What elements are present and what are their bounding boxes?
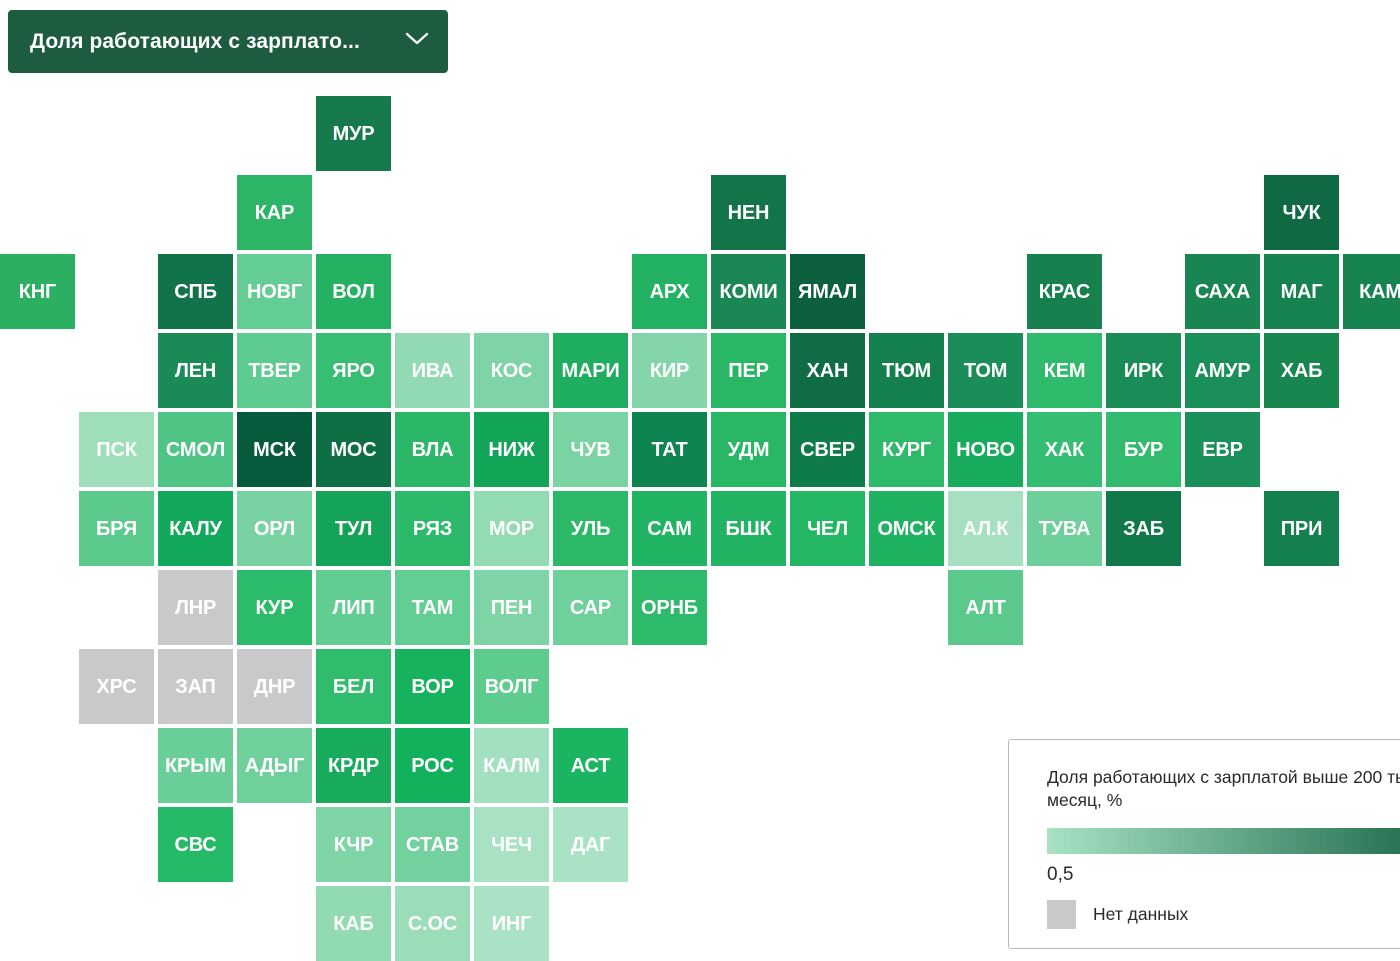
region-tile-label: ПЕР [728, 361, 768, 381]
region-tile-label: ЛЕН [175, 361, 216, 381]
region-tile-label: СВС [175, 835, 217, 855]
region-tile-КАЛУ[interactable]: КАЛУ [158, 491, 233, 566]
legend-nodata-swatch [1047, 900, 1076, 929]
region-tile-label: ЛНР [175, 598, 216, 618]
region-tile-label: САХА [1195, 282, 1250, 302]
region-tile-АМУР[interactable]: АМУР [1185, 333, 1260, 408]
region-tile-КУРГ[interactable]: КУРГ [869, 412, 944, 487]
region-tile-label: МСК [253, 440, 296, 460]
region-tile-ПСК[interactable]: ПСК [79, 412, 154, 487]
legend-nodata-row: Нет данных [1047, 900, 1400, 929]
region-tile-ВОЛ[interactable]: ВОЛ [316, 254, 391, 329]
legend-color-ramp [1047, 828, 1400, 854]
region-tile-МУР[interactable]: МУР [316, 96, 391, 171]
region-tile-ДНР[interactable]: ДНР [237, 649, 312, 724]
region-tile-ЯРО[interactable]: ЯРО [316, 333, 391, 408]
region-tile-ТУВА[interactable]: ТУВА [1027, 491, 1102, 566]
region-tile-СТАВ[interactable]: СТАВ [395, 807, 470, 882]
region-tile-КАР[interactable]: КАР [237, 175, 312, 250]
region-tile-МАРИ[interactable]: МАРИ [553, 333, 628, 408]
region-tile-label: ЧЕЛ [807, 519, 848, 539]
region-tile-label: МОС [330, 440, 376, 460]
region-tile-label: КАЛУ [169, 519, 222, 539]
region-tile-label: ПСК [96, 440, 136, 460]
region-tile-ЛНР[interactable]: ЛНР [158, 570, 233, 645]
region-tile-ВОР[interactable]: ВОР [395, 649, 470, 724]
region-tile-label: ПРИ [1281, 519, 1323, 539]
region-tile-label: АЛТ [965, 598, 1005, 618]
region-tile-label: КРАС [1039, 282, 1090, 302]
region-tile-label: КАР [255, 203, 294, 223]
region-tile-label: НЕН [728, 203, 770, 223]
region-tile-ХАК[interactable]: ХАК [1027, 412, 1102, 487]
region-tile-label: ТВЕР [248, 361, 301, 381]
region-tile-МАГ[interactable]: МАГ [1264, 254, 1339, 329]
region-tile-САХА[interactable]: САХА [1185, 254, 1260, 329]
region-tile-БУР[interactable]: БУР [1106, 412, 1181, 487]
region-tile-С.ОС[interactable]: С.ОС [395, 886, 470, 961]
region-tile-НЕН[interactable]: НЕН [711, 175, 786, 250]
region-tile-label: ЛИП [332, 598, 374, 618]
region-tile-label: БЕЛ [333, 677, 374, 697]
region-tile-КРДР[interactable]: КРДР [316, 728, 391, 803]
region-tile-label: ТОМ [964, 361, 1007, 381]
region-tile-label: ЧУВ [570, 440, 610, 460]
region-tile-label: НИЖ [488, 440, 534, 460]
region-tile-БРЯ[interactable]: БРЯ [79, 491, 154, 566]
region-tile-ИРК[interactable]: ИРК [1106, 333, 1181, 408]
region-tile-ХРС[interactable]: ХРС [79, 649, 154, 724]
region-tile-КАБ[interactable]: КАБ [316, 886, 391, 961]
region-tile-label: КЕМ [1044, 361, 1086, 381]
region-tile-label: ЯМАЛ [798, 282, 857, 302]
region-tile-ВЛА[interactable]: ВЛА [395, 412, 470, 487]
region-tile-АРХ[interactable]: АРХ [632, 254, 707, 329]
region-tile-УДМ[interactable]: УДМ [711, 412, 786, 487]
region-tile-label: ОРЛ [254, 519, 295, 539]
region-tile-ЗАП[interactable]: ЗАП [158, 649, 233, 724]
region-tile-ЧУК[interactable]: ЧУК [1264, 175, 1339, 250]
region-tile-label: МАРИ [561, 361, 619, 381]
region-tile-АСТ[interactable]: АСТ [553, 728, 628, 803]
region-tile-СМОЛ[interactable]: СМОЛ [158, 412, 233, 487]
region-tile-label: РОС [411, 756, 453, 776]
region-tile-label: ТУЛ [335, 519, 372, 539]
region-tile-label: УДМ [728, 440, 770, 460]
region-tile-label: КАЛМ [483, 756, 540, 776]
region-tile-ХАБ[interactable]: ХАБ [1264, 333, 1339, 408]
region-tile-label: ДНР [254, 677, 295, 697]
region-tile-ТОМ[interactable]: ТОМ [948, 333, 1023, 408]
region-tile-ИВА[interactable]: ИВА [395, 333, 470, 408]
chevron-down-icon [404, 31, 430, 52]
region-tile-label: УЛЬ [571, 519, 611, 539]
region-tile-ТЮМ[interactable]: ТЮМ [869, 333, 944, 408]
region-tile-ЛИП[interactable]: ЛИП [316, 570, 391, 645]
region-tile-ЧУВ[interactable]: ЧУВ [553, 412, 628, 487]
region-tile-label: ВОЛ [332, 282, 374, 302]
region-tile-label: С.ОС [408, 914, 457, 934]
region-tile-label: ИВА [412, 361, 454, 381]
region-tile-МСК[interactable]: МСК [237, 412, 312, 487]
region-tile-label: ЯРО [332, 361, 374, 381]
region-tile-label: СПБ [174, 282, 217, 302]
region-tile-ХАН[interactable]: ХАН [790, 333, 865, 408]
region-tile-КОМИ[interactable]: КОМИ [711, 254, 786, 329]
region-tile-ВОЛГ[interactable]: ВОЛГ [474, 649, 549, 724]
region-tile-КИР[interactable]: КИР [632, 333, 707, 408]
region-tile-label: КРЫМ [165, 756, 226, 776]
region-tile-label: ИРК [1124, 361, 1163, 381]
region-tile-НОВО[interactable]: НОВО [948, 412, 1023, 487]
region-tile-label: КАМ [1359, 282, 1400, 302]
region-tile-НИЖ[interactable]: НИЖ [474, 412, 549, 487]
region-tile-label: КОС [491, 361, 533, 381]
legend-title: Доля работающих с зарплатой выше 200 тыс… [1047, 766, 1400, 812]
region-tile-label: КНГ [19, 282, 56, 302]
region-tile-label: ТАМ [412, 598, 453, 618]
region-tile-label: ХАН [807, 361, 849, 381]
region-tile-УЛЬ[interactable]: УЛЬ [553, 491, 628, 566]
region-tile-БЕЛ[interactable]: БЕЛ [316, 649, 391, 724]
region-tile-КАМ[interactable]: КАМ [1343, 254, 1400, 329]
region-tile-КУР[interactable]: КУР [237, 570, 312, 645]
region-tile-ЛЕН[interactable]: ЛЕН [158, 333, 233, 408]
region-tile-ТАТ[interactable]: ТАТ [632, 412, 707, 487]
region-tile-label: ДАГ [571, 835, 610, 855]
region-tile-label: МУР [333, 124, 375, 144]
region-tile-ОМСК[interactable]: ОМСК [869, 491, 944, 566]
metric-selector-label: Доля работающих с зарплато... [30, 30, 388, 54]
region-tile-label: СТАВ [406, 835, 459, 855]
region-tile-label: ПЕН [491, 598, 533, 618]
region-tile-label: КИР [650, 361, 689, 381]
region-tile-label: БШК [725, 519, 771, 539]
region-tile-ИНГ[interactable]: ИНГ [474, 886, 549, 961]
region-tile-label: СМОЛ [166, 440, 225, 460]
region-tile-НОВГ[interactable]: НОВГ [237, 254, 312, 329]
region-tile-label: СВЕР [800, 440, 855, 460]
region-tile-label: ХАК [1045, 440, 1084, 460]
region-tile-ЗАБ[interactable]: ЗАБ [1106, 491, 1181, 566]
region-tile-label: КЧР [334, 835, 374, 855]
region-tile-ЯМАЛ[interactable]: ЯМАЛ [790, 254, 865, 329]
region-tile-ЧЕЛ[interactable]: ЧЕЛ [790, 491, 865, 566]
region-tile-label: МАГ [1281, 282, 1323, 302]
region-tile-ТВЕР[interactable]: ТВЕР [237, 333, 312, 408]
region-tile-label: БУР [1124, 440, 1163, 460]
region-tile-label: ЗАБ [1123, 519, 1164, 539]
region-tile-label: НОВГ [247, 282, 302, 302]
region-tile-label: ТЮМ [882, 361, 931, 381]
region-tile-label: ОРНБ [641, 598, 698, 618]
region-tile-СПБ[interactable]: СПБ [158, 254, 233, 329]
region-tile-label: КУР [256, 598, 294, 618]
region-tile-label: САМ [647, 519, 691, 539]
region-tile-ПЕН[interactable]: ПЕН [474, 570, 549, 645]
region-tile-label: РЯЗ [413, 519, 452, 539]
region-tile-ЧЕЧ[interactable]: ЧЕЧ [474, 807, 549, 882]
region-tile-label: АЛ.К [963, 519, 1009, 539]
region-tile-label: ТУВА [1039, 519, 1091, 539]
region-tile-label: ЧЕЧ [491, 835, 532, 855]
region-tile-label: ИНГ [492, 914, 532, 934]
region-tile-label: ВОР [411, 677, 453, 697]
region-tile-СВЕР[interactable]: СВЕР [790, 412, 865, 487]
region-tile-МОС[interactable]: МОС [316, 412, 391, 487]
region-tile-КЕМ[interactable]: КЕМ [1027, 333, 1102, 408]
region-tile-КРЫМ[interactable]: КРЫМ [158, 728, 233, 803]
region-tile-РОС[interactable]: РОС [395, 728, 470, 803]
region-tile-СВС[interactable]: СВС [158, 807, 233, 882]
region-tile-label: ЕВР [1202, 440, 1243, 460]
legend-min-value: 0,5 [1047, 864, 1400, 886]
region-tile-label: МОР [489, 519, 534, 539]
region-tile-label: ВОЛГ [485, 677, 539, 697]
region-tile-label: КОМИ [720, 282, 778, 302]
region-tile-КОС[interactable]: КОС [474, 333, 549, 408]
region-tile-label: КРДР [328, 756, 379, 776]
region-tile-label: АМУР [1194, 361, 1250, 381]
region-tile-ДАГ[interactable]: ДАГ [553, 807, 628, 882]
region-tile-МОР[interactable]: МОР [474, 491, 549, 566]
legend-panel: Доля работающих с зарплатой выше 200 тыс… [1008, 739, 1400, 949]
region-tile-КАЛМ[interactable]: КАЛМ [474, 728, 549, 803]
region-tile-ТАМ[interactable]: ТАМ [395, 570, 470, 645]
region-tile-label: НОВО [956, 440, 1015, 460]
region-tile-label: ХАБ [1281, 361, 1323, 381]
region-tile-label: ЗАП [175, 677, 215, 697]
region-tile-label: ОМСК [877, 519, 935, 539]
region-tile-label: ХРС [96, 677, 136, 697]
legend-nodata-label: Нет данных [1093, 904, 1188, 925]
region-tile-ЕВР[interactable]: ЕВР [1185, 412, 1260, 487]
region-tile-label: САР [570, 598, 611, 618]
region-tile-label: КУРГ [882, 440, 931, 460]
region-tile-АЛ.К[interactable]: АЛ.К [948, 491, 1023, 566]
region-tile-label: ВЛА [412, 440, 454, 460]
region-tile-САР[interactable]: САР [553, 570, 628, 645]
region-tile-ПЕР[interactable]: ПЕР [711, 333, 786, 408]
region-tile-label: КАБ [333, 914, 373, 934]
region-tile-label: БРЯ [96, 519, 137, 539]
region-tile-label: АРХ [650, 282, 690, 302]
region-tile-АЛТ[interactable]: АЛТ [948, 570, 1023, 645]
region-tile-КНГ[interactable]: КНГ [0, 254, 75, 329]
region-tile-АДЫГ[interactable]: АДЫГ [237, 728, 312, 803]
region-tile-КРАС[interactable]: КРАС [1027, 254, 1102, 329]
region-tile-ТУЛ[interactable]: ТУЛ [316, 491, 391, 566]
region-tile-label: АДЫГ [245, 756, 305, 776]
region-tile-БШК[interactable]: БШК [711, 491, 786, 566]
region-tile-label: ТАТ [651, 440, 687, 460]
region-tile-КЧР[interactable]: КЧР [316, 807, 391, 882]
region-tile-ОРНБ[interactable]: ОРНБ [632, 570, 707, 645]
region-tile-САМ[interactable]: САМ [632, 491, 707, 566]
region-tile-label: ЧУК [1282, 203, 1320, 223]
metric-selector-dropdown[interactable]: Доля работающих с зарплато... [8, 10, 448, 73]
region-tile-ПРИ[interactable]: ПРИ [1264, 491, 1339, 566]
region-tile-РЯЗ[interactable]: РЯЗ [395, 491, 470, 566]
region-tile-label: АСТ [571, 756, 611, 776]
region-tile-ОРЛ[interactable]: ОРЛ [237, 491, 312, 566]
